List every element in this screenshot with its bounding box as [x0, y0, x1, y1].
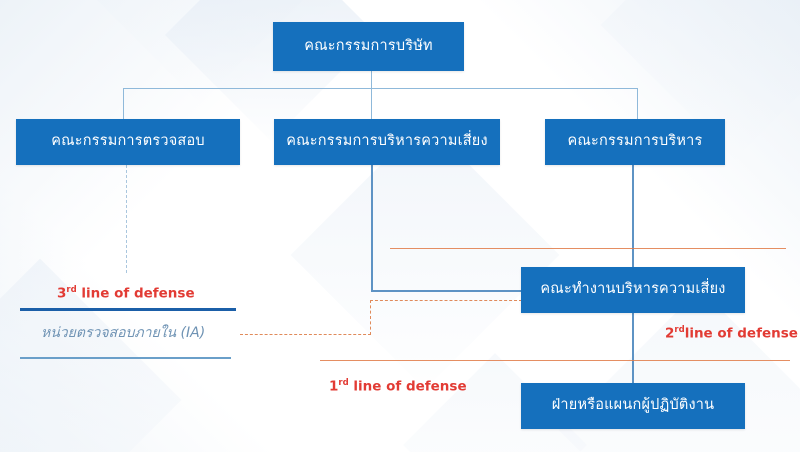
connector-orange-dashed-vertical	[370, 300, 371, 335]
connector-audit-committee-dashed	[126, 165, 127, 273]
label-second-line-text: line of defense	[685, 326, 798, 342]
divider-orange-lower	[320, 360, 790, 361]
box-risk-management-committee-label: คณะกรรมการบริหารความเสี่ยง	[286, 134, 488, 150]
box-board-of-directors[interactable]: คณะกรรมการบริษัท	[273, 22, 464, 71]
box-risk-management-working-group[interactable]: คณะทำงานบริหารความเสี่ยง	[521, 267, 745, 313]
label-first-line-text: line of defense	[349, 379, 467, 395]
box-operating-department-label: ฝ่ายหรือแผนกผู้ปฏิบัติงาน	[552, 398, 715, 414]
label-third-line-text: line of defense	[77, 286, 195, 302]
label-first-line-number: 1	[329, 379, 338, 395]
connector-risk-committee-to-working-group	[371, 290, 523, 292]
label-second-line-number: 2	[665, 326, 674, 342]
connector-bus-to-executive-committee	[637, 88, 638, 119]
box-audit-committee[interactable]: คณะกรรมการตรวจสอบ	[16, 119, 240, 165]
connector-risk-committee-vertical	[371, 165, 373, 291]
label-internal-audit-text: หน่วยตรวจสอบภายใน (IA)	[41, 325, 205, 341]
label-second-line-of-defense: 2rdline of defense	[665, 325, 798, 342]
connector-bus-horizontal	[123, 88, 638, 89]
label-third-line-of-defense: 3rd line of defense	[57, 285, 195, 302]
connector-board-to-bus	[371, 71, 372, 88]
label-third-line-number: 3	[57, 286, 66, 302]
connector-orange-dashed-top	[370, 300, 522, 301]
connector-orange-dashed-bottom	[240, 334, 371, 335]
box-executive-committee-label: คณะกรรมการบริหาร	[567, 134, 702, 150]
connector-executive-committee-vertical	[632, 165, 634, 273]
label-internal-audit: หน่วยตรวจสอบภายใน (IA)	[41, 322, 205, 344]
divider-orange-upper	[390, 248, 786, 249]
box-risk-management-committee[interactable]: คณะกรรมการบริหารความเสี่ยง	[274, 119, 500, 165]
divider-blue-thick	[20, 308, 236, 311]
divider-blue-thin	[20, 357, 231, 359]
connector-bus-to-risk-committee	[371, 88, 372, 119]
org-chart-canvas: คณะกรรมการบริษัท คณะกรรมการตรวจสอบ คณะกร…	[0, 0, 800, 452]
box-operating-department[interactable]: ฝ่ายหรือแผนกผู้ปฏิบัติงาน	[521, 383, 745, 429]
connector-working-group-to-operations	[632, 313, 634, 383]
box-executive-committee[interactable]: คณะกรรมการบริหาร	[545, 119, 725, 165]
label-second-line-ordinal: rd	[674, 325, 684, 335]
box-risk-management-working-group-label: คณะทำงานบริหารความเสี่ยง	[540, 282, 725, 298]
label-first-line-of-defense: 1rd line of defense	[329, 378, 467, 395]
label-first-line-ordinal: rd	[338, 378, 348, 388]
box-board-of-directors-label: คณะกรรมการบริษัท	[304, 39, 432, 55]
box-audit-committee-label: คณะกรรมการตรวจสอบ	[51, 134, 205, 150]
connector-bus-to-audit-committee	[123, 88, 124, 119]
label-third-line-ordinal: rd	[66, 285, 76, 295]
